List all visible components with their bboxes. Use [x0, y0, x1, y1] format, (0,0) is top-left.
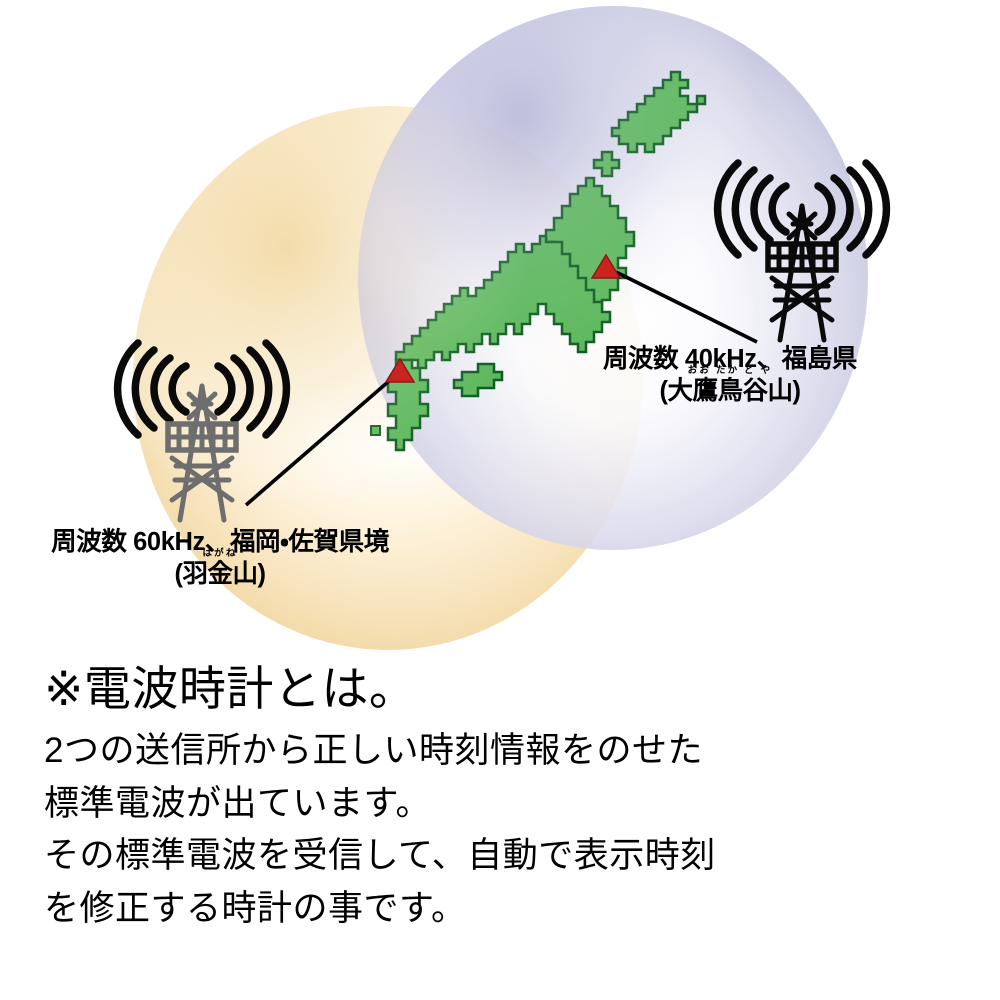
- label-transmitter-40khz: 周波数 40kHz、福島県 おお たか ど や (大鷹鳥谷山): [500, 345, 960, 405]
- label-60khz-sub-wrap: はがね (羽金山): [175, 560, 266, 589]
- page-heading: ※電波時計とは。: [44, 660, 974, 717]
- label-40khz-sub: (大鷹鳥谷山): [660, 377, 801, 406]
- label-transmitter-60khz: 周波数 60kHz、福岡・佐賀県境 はがね (羽金山): [10, 528, 430, 588]
- furigana-haganeyama: はがね: [175, 549, 266, 560]
- description-block: ※電波時計とは。 2つの送信所から正しい時刻情報をのせた 標準電波が出ています。…: [44, 660, 974, 935]
- description-line-2: 標準電波が出ています。: [44, 778, 974, 831]
- label-60khz-sub: (羽金山): [175, 560, 266, 589]
- description-line-3: その標準電波を受信して、自動で表示時刻: [44, 830, 974, 883]
- label-40khz-sub-wrap: おお たか ど や (大鷹鳥谷山): [660, 377, 801, 406]
- description-line-1: 2つの送信所から正しい時刻情報をのせた: [44, 725, 974, 778]
- furigana-ohtakadoya: おお たか ど や: [660, 366, 801, 377]
- description-line-4: を修正する時計の事です。: [44, 883, 974, 936]
